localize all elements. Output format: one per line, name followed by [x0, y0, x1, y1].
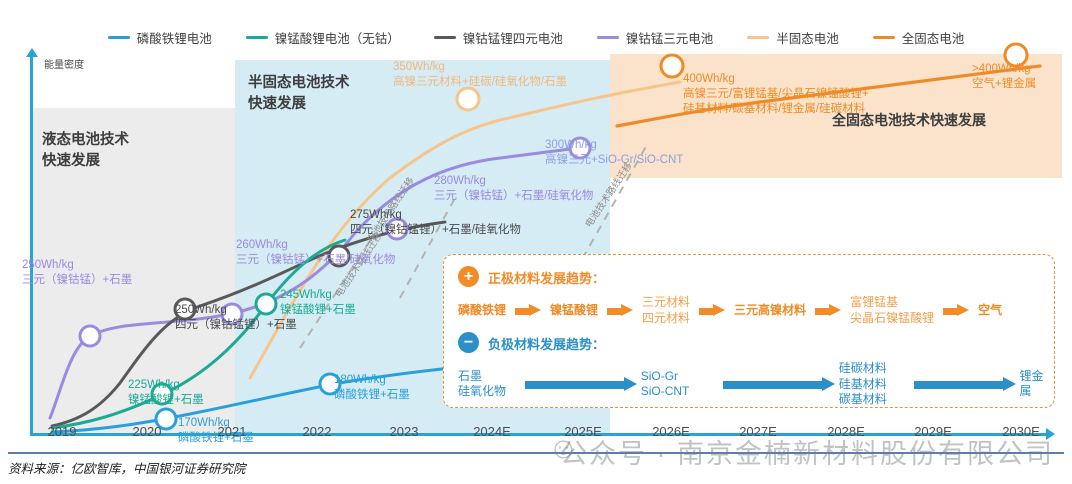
- legend-item-semi-solid[interactable]: 半固态电池: [747, 28, 839, 47]
- x-tick-2025E: 2025E: [564, 424, 602, 439]
- legend-label-quaternary: 镍钴锰锂四元电池: [463, 28, 563, 47]
- anode-step-2: SiO-Gr SiO-CNT: [641, 369, 716, 400]
- legend-item-lnmo[interactable]: 镍锰酸锂电池（无钴）: [246, 28, 400, 47]
- x-tick-2027E: 2027E: [739, 424, 777, 439]
- annotation-250-ncm: 250Wh/kg 三元（镍钴锰）+石墨: [22, 258, 132, 288]
- annotation-260-ncm: 260Wh/kg 三元（镍钴锰）+石墨/硅氧化物: [236, 238, 395, 268]
- arrow-right-icon-c4: [815, 304, 841, 317]
- annotation-180-lfp: 180Wh/kg 磷酸铁锂+石墨: [334, 373, 410, 403]
- x-tick-2020: 2020: [133, 424, 162, 439]
- plus-icon: +: [458, 266, 479, 287]
- legend-item-lfp[interactable]: 磷酸铁锂电池: [108, 28, 212, 47]
- footer-divider: [8, 452, 1064, 454]
- x-tick-2023: 2023: [390, 424, 419, 439]
- legend-item-quaternary[interactable]: 镍钴锰锂四元电池: [434, 28, 563, 47]
- arrow-right-icon-c5: [943, 304, 969, 317]
- legend-item-ncm[interactable]: 镍钴锰三元电池: [597, 28, 714, 47]
- source-note: 资料来源：亿欧智库，中国银河证券研究院: [8, 458, 246, 477]
- legend-swatch-semi-solid: [747, 36, 769, 39]
- legend-label-all-solid: 全固态电池: [902, 28, 965, 47]
- x-tick-2024E: 2024E: [473, 424, 511, 439]
- x-tick-2022: 2022: [303, 424, 332, 439]
- x-tick-2026E: 2026E: [652, 424, 690, 439]
- cathode-step-3: 三元材料 四元材料: [642, 295, 690, 326]
- material-trend-inset: + 正极材料发展趋势： 磷酸铁锂 镍锰酸锂 三元材料 四元材料 三元高镍材料 富…: [443, 254, 1055, 408]
- legend-label-semi-solid: 半固态电池: [776, 28, 839, 47]
- marker-400-solid: [661, 55, 683, 77]
- arrow-right-icon-a1: [525, 377, 632, 391]
- arrow-right-icon-c2: [607, 304, 633, 317]
- annotation-245-lnmo: 245Wh/kg 镍锰酸锂+石墨: [280, 288, 356, 318]
- x-tick-2028E: 2028E: [827, 424, 865, 439]
- anode-step-4: 锂金属: [1020, 369, 1055, 400]
- legend-label-lnmo: 镍锰酸锂电池（无钴）: [275, 28, 400, 47]
- arrow-right-icon-a3: [914, 377, 1012, 391]
- legend-item-all-solid[interactable]: 全固态电池: [873, 28, 965, 47]
- legend-swatch-quaternary: [434, 36, 456, 39]
- x-tick-2021: 2021: [218, 424, 247, 439]
- chart-legend: 磷酸铁锂电池 镍锰酸锂电池（无钴） 镍钴锰锂四元电池 镍钴锰三元电池 半固态电池…: [0, 26, 1072, 48]
- cathode-step-4: 三元高镍材料: [734, 303, 806, 319]
- arrow-right-icon-c3: [699, 304, 725, 317]
- annotation-350-semi-solid: 350Wh/kg 高镍三元材料+硅碳/硅氧化物/石墨: [393, 60, 567, 90]
- legend-swatch-all-solid: [873, 36, 895, 39]
- annotation-280-ncm: 280Wh/kg 三元（镍钴锰）+石墨/硅氧化物: [434, 174, 593, 204]
- anode-chain: 石墨 硅氧化物 SiO-Gr SiO-CNT 硅碳材料 硅基材料 碳基材料 锂金…: [458, 361, 1054, 408]
- cathode-step-6: 空气: [978, 303, 1002, 319]
- annotation-225-lnmo: 225Wh/kg 镍锰酸锂+石墨: [128, 378, 204, 408]
- anode-step-3: 硅碳材料 硅基材料 碳基材料: [839, 361, 906, 408]
- legend-swatch-lfp: [108, 36, 130, 39]
- annotation-300-ncm: 300Wh/kg 高镍三元+SiO-Gr/SiO-CNT: [545, 138, 683, 168]
- cathode-header: + 正极材料发展趋势：: [458, 266, 605, 287]
- x-tick-2029E: 2029E: [914, 424, 952, 439]
- arrow-right-icon-a2: [723, 377, 830, 391]
- legend-label-lfp: 磷酸铁锂电池: [137, 28, 212, 47]
- cathode-step-1: 磷酸铁锂: [458, 303, 506, 319]
- annotation-400-all-solid: 400Wh/kg 高镍三元/富锂锰基/尖晶石镍锰酸锂+ 硅基材料/碳基材料/锂金…: [683, 72, 869, 117]
- anode-header: − 负极材料发展趋势：: [458, 332, 605, 353]
- cathode-title: 正极材料发展趋势：: [488, 268, 605, 287]
- legend-swatch-ncm: [597, 36, 619, 39]
- annotation-400plus-all-solid: >400Wh/kg 空气+锂金属: [972, 62, 1036, 92]
- legend-swatch-lnmo: [246, 36, 268, 39]
- marker-250-ncm: [80, 326, 100, 346]
- marker-350-semi: [457, 88, 479, 110]
- x-tick-2030E: 2030E: [1002, 424, 1040, 439]
- cathode-step-5: 富锂锰基 尖晶石镍锰酸锂: [850, 295, 934, 326]
- arrow-right-icon-c1: [515, 304, 541, 317]
- x-axis-ticks: 2019 2020 2021 2022 2023 2024E 2025E 202…: [0, 424, 1072, 448]
- annotation-250-quaternary: 250Wh/kg 四元（镍钴锰锂）+石墨: [175, 303, 297, 333]
- annotation-275-quaternary: 275Wh/kg 四元（镍钴锰锂）+石墨/硅氧化物: [350, 208, 521, 238]
- legend-label-ncm: 镍钴锰三元电池: [626, 28, 714, 47]
- cathode-chain: 磷酸铁锂 镍锰酸锂 三元材料 四元材料 三元高镍材料 富锂锰基 尖晶石镍锰酸锂 …: [458, 295, 1002, 326]
- cathode-step-2: 镍锰酸锂: [550, 303, 598, 319]
- anode-title: 负极材料发展趋势：: [488, 334, 605, 353]
- x-tick-2019: 2019: [48, 424, 77, 439]
- anode-step-1: 石墨 硅氧化物: [458, 369, 517, 400]
- chart-root: 磷酸铁锂电池 镍锰酸锂电池（无钴） 镍钴锰锂四元电池 镍钴锰三元电池 半固态电池…: [0, 0, 1072, 484]
- minus-icon: −: [458, 332, 479, 353]
